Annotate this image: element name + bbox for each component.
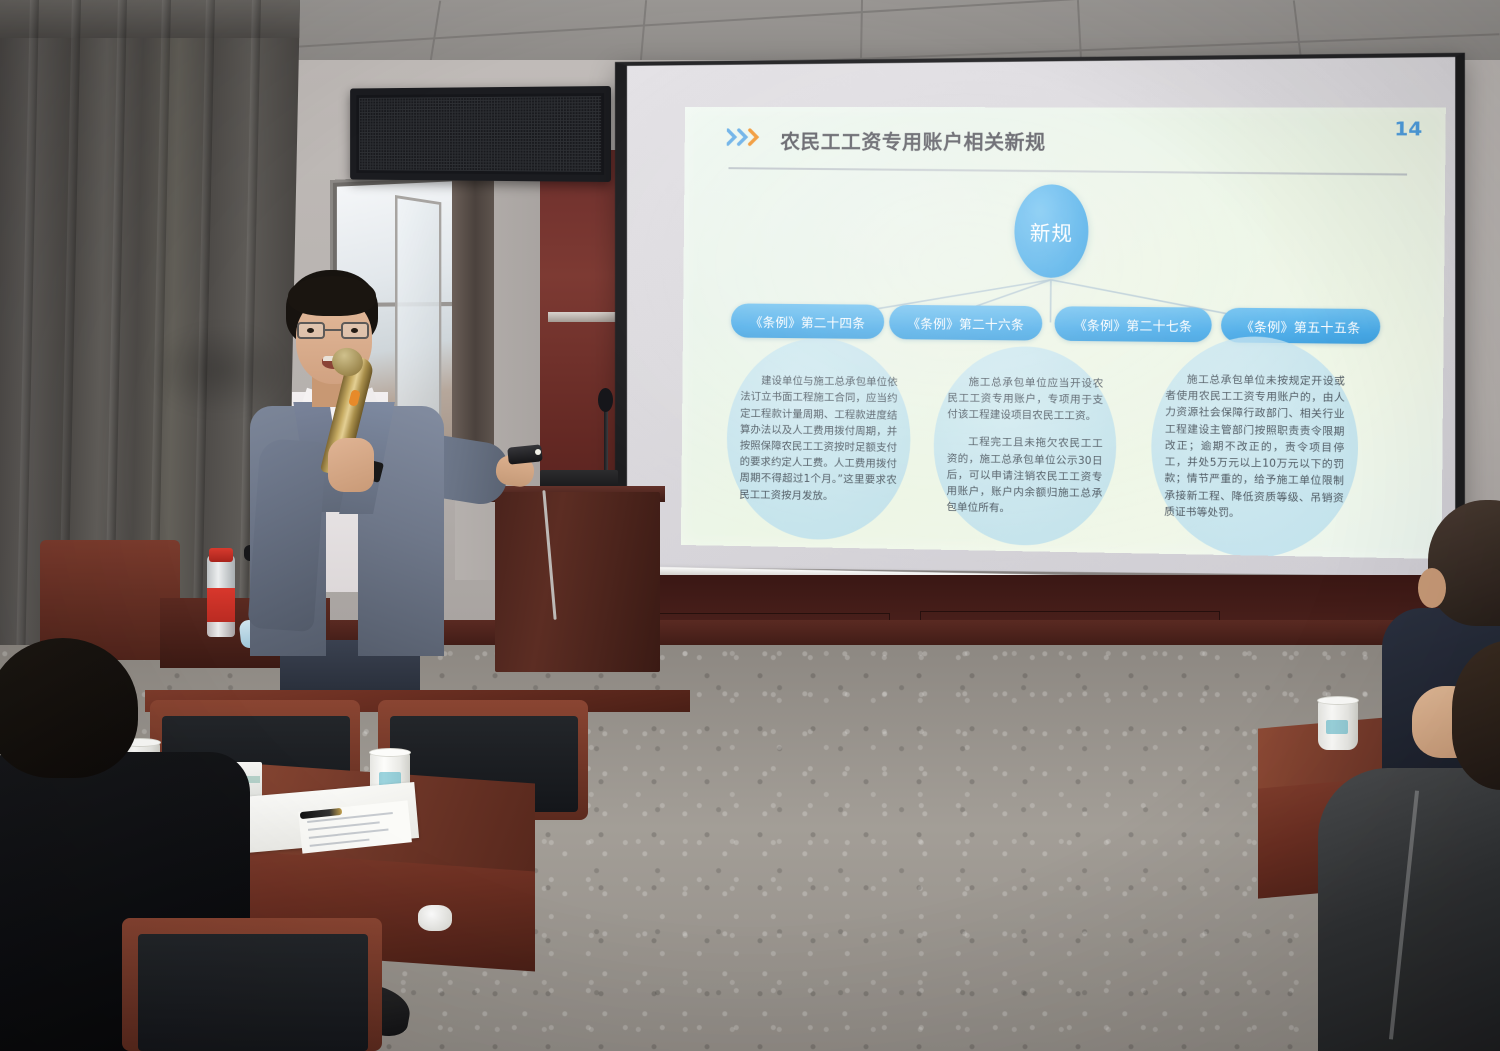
presenter <box>250 270 550 670</box>
diagram-node-4-label: 《条例》第五十五条 <box>1241 316 1361 337</box>
diagram-node-1-label: 《条例》第二十四条 <box>750 311 865 331</box>
presenter-hair-fringe <box>288 276 376 316</box>
bubble-1-paragraph-1: 建设单位与施工总承包单位依法订立书面工程施工合同，应当约定工程款计量周期、工程款… <box>739 373 898 506</box>
diagram-node-2-label: 《条例》第二十六条 <box>907 313 1024 333</box>
diagram-node-3-label: 《条例》第二十七条 <box>1074 314 1192 334</box>
chair-front-left-seat <box>138 934 368 1051</box>
paper-cup-3-rim <box>1317 696 1359 705</box>
audience-front-left-head <box>0 638 138 778</box>
diagram-node-1: 《条例》第二十四条 <box>731 303 884 339</box>
presentation-slide: 农民工工资专用账户相关新规 14 新规 《条例》第二十四条 《条例》第二十六条 … <box>681 107 1446 559</box>
audience-right-back-ear <box>1418 568 1446 608</box>
led-display-panel <box>350 86 611 182</box>
audience-right-front-body <box>1318 768 1500 1051</box>
paper-cup-2-rim <box>369 748 411 757</box>
content-bubble-2: 施工总承包单位应当开设农民工工资专用账户，专项用于支付该工程建设项目农民工工资。… <box>933 346 1117 547</box>
diagram-node-2: 《条例》第二十六条 <box>889 305 1042 341</box>
bubble-2-paragraph-1: 施工总承包单位应当开设农民工工资专用账户，专项用于支付该工程建设项目农民工工资。 <box>947 374 1103 425</box>
bubble-3-paragraph-1: 施工总承包单位未按规定开设或者使用农民工工资专用账户的，由人力资源社会保障行政部… <box>1164 371 1345 523</box>
water-bottle-cap <box>209 548 233 562</box>
eyeglasses-icon <box>297 322 371 339</box>
podium-microphone-icon <box>598 388 613 412</box>
conference-room-scene: 农民工工资专用账户相关新规 14 新规 《条例》第二十四条 《条例》第二十六条 … <box>0 0 1500 1051</box>
root-node-label: 新规 <box>1030 216 1073 246</box>
water-bottle-label <box>207 588 235 622</box>
presenter-hand-holding-microphone <box>328 438 374 492</box>
led-dot-matrix <box>359 96 601 172</box>
paper-cup-3-logo-icon <box>1326 720 1348 734</box>
presenter-left-arm <box>247 438 326 632</box>
crumpled-tissue <box>418 905 452 931</box>
diagram-node-3: 《条例》第二十七条 <box>1054 306 1211 342</box>
clicker-indicator-icon <box>535 449 541 455</box>
bubble-2-paragraph-2: 工程完工且未拖欠农民工工资的，施工总承包单位公示30日后，可以申请注销农民工工资… <box>946 434 1103 519</box>
